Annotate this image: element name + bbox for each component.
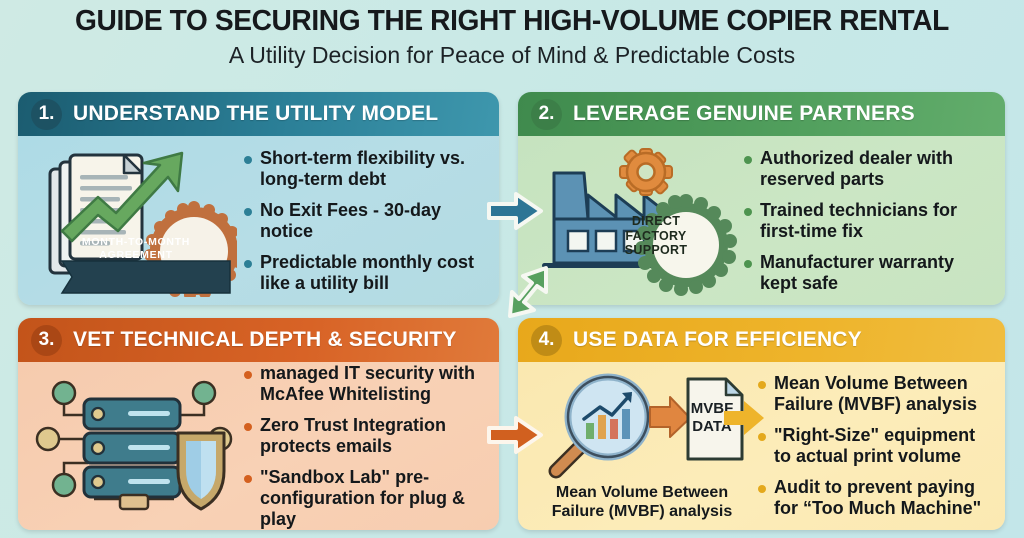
bullet-dot-icon — [744, 156, 752, 164]
page-subtitle: A Utility Decision for Peace of Mind & P… — [0, 40, 1024, 70]
list-item: Predictable monthly cost like a utility … — [244, 252, 483, 294]
panel-use-data-for-efficiency[interactable]: 4. USE DATA FOR EFFICIENCY — [518, 318, 1005, 530]
panel3-bullet-3: "Sandbox Lab" pre-configuration for plug… — [260, 467, 483, 530]
panel1-bullet-3: Predictable monthly cost like a utility … — [260, 252, 483, 294]
bullet-dot-icon — [758, 485, 766, 493]
documents-growth-arrow-badge-icon: MONTH-TO-MONTH AGREEMENT — [28, 144, 240, 297]
list-item: Zero Trust Integration protects emails — [244, 415, 483, 457]
panel1-number-badge: 1. — [31, 99, 62, 130]
panel2-header: 2. LEVERAGE GENUINE PARTNERS — [518, 92, 1005, 136]
panel4-title: USE DATA FOR EFFICIENCY — [573, 328, 862, 352]
list-item: No Exit Fees - 30-day notice — [244, 200, 483, 242]
page-title: GUIDE TO SECURING THE RIGHT HIGH-VOLUME … — [15, 4, 1008, 38]
bullet-dot-icon — [744, 260, 752, 268]
bullet-dot-icon — [244, 260, 252, 268]
panel3-bullet-1: managed IT security with McAfee Whitelis… — [260, 363, 483, 405]
list-item: "Sandbox Lab" pre-configuration for plug… — [244, 467, 483, 530]
panel4-bullet-3: Audit to prevent paying for “Too Much Ma… — [774, 477, 989, 519]
factory-illustration — [532, 145, 737, 297]
documents-chart-illustration — [32, 145, 237, 297]
list-item: managed IT security with McAfee Whitelis… — [244, 363, 483, 405]
bullet-dot-icon — [758, 381, 766, 389]
panel2-bullet-1: Authorized dealer with reserved parts — [760, 148, 989, 190]
panel1-bullet-2: No Exit Fees - 30-day notice — [260, 200, 483, 242]
panel2-body: DIRECT FACTORY SUPPORT Authorized dealer… — [518, 136, 1005, 305]
panel-understand-utility-model[interactable]: 1. UNDERSTAND THE UTILITY MODEL — [18, 92, 499, 305]
panel4-bullet-2: "Right-Size" equipment to actual print v… — [774, 425, 989, 467]
bullet-dot-icon — [244, 423, 252, 431]
panel2-number-badge: 2. — [531, 99, 562, 130]
panel1-bullet-1: Short-term flexibility vs. long-term deb… — [260, 148, 483, 190]
panel1-title: UNDERSTAND THE UTILITY MODEL — [73, 102, 438, 126]
infographic-canvas: GUIDE TO SECURING THE RIGHT HIGH-VOLUME … — [0, 0, 1024, 538]
panel1-bullet-list: Short-term flexibility vs. long-term deb… — [240, 144, 489, 297]
panel3-title: VET TECHNICAL DEPTH & SECURITY — [73, 328, 457, 352]
panel-vet-technical-depth-security[interactable]: 3. VET TECHNICAL DEPTH & SECURITY — [18, 318, 499, 530]
magnifier-chart-document-icon: MVBF DATA Mean Volume Between Failure (M… — [528, 370, 756, 522]
list-item: "Right-Size" equipment to actual print v… — [758, 425, 989, 467]
panel4-bullet-1: Mean Volume Between Failure (MVBF) analy… — [774, 373, 989, 415]
panel2-title: LEVERAGE GENUINE PARTNERS — [573, 102, 915, 126]
panel-leverage-genuine-partners[interactable]: 2. LEVERAGE GENUINE PARTNERS — [518, 92, 1005, 305]
server-rack-shield-network-icon — [28, 370, 240, 522]
panel4-number-badge: 4. — [531, 325, 562, 356]
bullet-dot-icon — [758, 433, 766, 441]
list-item: Mean Volume Between Failure (MVBF) analy… — [758, 373, 989, 415]
list-item: Short-term flexibility vs. long-term deb… — [244, 148, 483, 190]
panel3-bullet-list: managed IT security with McAfee Whitelis… — [240, 370, 489, 522]
list-item: Manufacturer warranty kept safe — [744, 252, 989, 294]
list-item: Audit to prevent paying for “Too Much Ma… — [758, 477, 989, 519]
panel2-bullet-list: Authorized dealer with reserved parts Tr… — [740, 144, 995, 297]
panel3-number-badge: 3. — [31, 325, 62, 356]
list-item: Authorized dealer with reserved parts — [744, 148, 989, 190]
bullet-dot-icon — [244, 371, 252, 379]
panel4-illustration-caption: Mean Volume Between Failure (MVBF) analy… — [528, 483, 756, 521]
panel2-bullet-2: Trained technicians for first-time fix — [760, 200, 989, 242]
bullet-dot-icon — [244, 475, 252, 483]
panel1-body: MONTH-TO-MONTH AGREEMENT Short-term flex… — [18, 136, 499, 305]
mvbf-analysis-illustration — [530, 371, 754, 479]
panel2-bullet-3: Manufacturer warranty kept safe — [760, 252, 989, 294]
panel3-body: managed IT security with McAfee Whitelis… — [18, 362, 499, 530]
bullet-dot-icon — [244, 208, 252, 216]
factory-gear-seal-icon: DIRECT FACTORY SUPPORT — [528, 144, 740, 297]
panel3-bullet-2: Zero Trust Integration protects emails — [260, 415, 483, 457]
panel4-bullet-list: Mean Volume Between Failure (MVBF) analy… — [756, 370, 995, 522]
panel4-body: MVBF DATA Mean Volume Between Failure (M… — [518, 362, 1005, 530]
list-item: Trained technicians for first-time fix — [744, 200, 989, 242]
panel4-header: 4. USE DATA FOR EFFICIENCY — [518, 318, 1005, 362]
server-security-illustration — [32, 371, 237, 521]
bullet-dot-icon — [244, 156, 252, 164]
panel3-header: 3. VET TECHNICAL DEPTH & SECURITY — [18, 318, 499, 362]
bullet-dot-icon — [744, 208, 752, 216]
infographic-header: GUIDE TO SECURING THE RIGHT HIGH-VOLUME … — [0, 0, 1024, 84]
panel1-header: 1. UNDERSTAND THE UTILITY MODEL — [18, 92, 499, 136]
